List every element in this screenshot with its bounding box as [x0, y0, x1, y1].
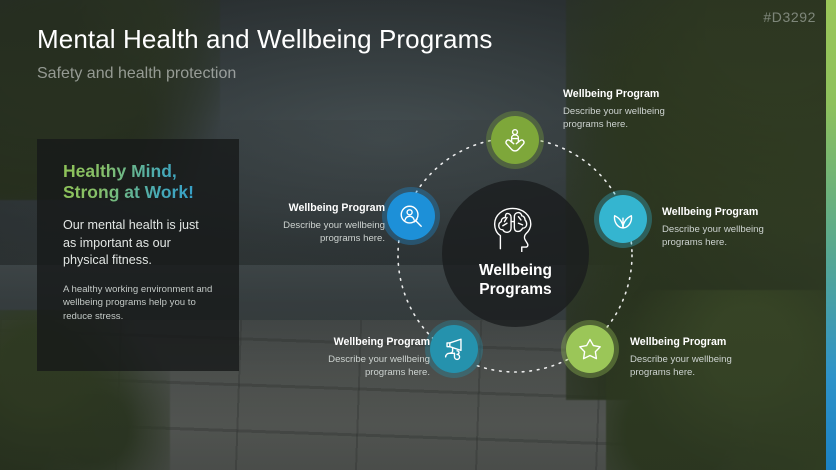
card-body-text: A healthy working environment and wellbe… [63, 283, 215, 324]
person-search-magnifier-icon [398, 203, 424, 229]
page-title: Mental Health and Wellbeing Programs [37, 24, 492, 55]
star-icon [577, 336, 603, 362]
card-lead-text: Our mental health is just as important a… [63, 217, 215, 270]
head-brain-icon [489, 206, 543, 252]
page-subtitle: Safety and health protection [37, 65, 236, 83]
hands-holding-person-icon [502, 127, 528, 153]
megaphone-icon [441, 336, 467, 362]
caption-bottom-left-description: Describe your wellbeing programs here. [290, 353, 430, 379]
card-heading: Healthy Mind, Strong at Work! [63, 161, 215, 203]
caption-right-description: Describe your wellbeing programs here. [662, 223, 802, 249]
diagram-hub: Wellbeing Programs [442, 180, 589, 327]
caption-left-description: Describe your wellbeing programs here. [245, 219, 385, 245]
node-left-wellbeing-program[interactable] [387, 192, 435, 240]
caption-right: Wellbeing Program Describe your wellbein… [662, 206, 802, 249]
slide-id-tag: #D3292 [763, 9, 816, 25]
node-top-wellbeing-program[interactable] [491, 116, 539, 164]
node-bottom-right-wellbeing-program[interactable] [566, 325, 614, 373]
hub-label: Wellbeing Programs [479, 261, 552, 299]
card-heading-line-1: Healthy Mind, [63, 161, 177, 181]
caption-left: Wellbeing Program Describe your wellbein… [245, 202, 385, 245]
caption-right-title: Wellbeing Program [662, 206, 802, 219]
hub-label-line-1: Wellbeing [479, 262, 552, 279]
caption-left-title: Wellbeing Program [245, 202, 385, 215]
slide-canvas: #D3292 Mental Health and Wellbeing Progr… [0, 0, 836, 470]
card-heading-line-2: Strong at Work! [63, 182, 194, 202]
caption-bottom-right-description: Describe your wellbeing programs here. [630, 353, 770, 379]
caption-bottom-left-title: Wellbeing Program [290, 336, 430, 349]
node-bottom-left-wellbeing-program[interactable] [430, 325, 478, 373]
highlight-card: Healthy Mind, Strong at Work! Our mental… [37, 139, 239, 371]
node-right-wellbeing-program[interactable] [599, 195, 647, 243]
accent-gradient-strip [826, 0, 836, 470]
caption-bottom-left: Wellbeing Program Describe your wellbein… [290, 336, 430, 379]
caption-bottom-right-title: Wellbeing Program [630, 336, 770, 349]
hub-label-line-2: Programs [479, 281, 551, 298]
caption-bottom-right: Wellbeing Program Describe your wellbein… [630, 336, 770, 379]
leaf-icon [610, 206, 636, 232]
caption-top: Wellbeing Program Describe your wellbein… [563, 88, 703, 131]
caption-top-description: Describe your wellbeing programs here. [563, 105, 703, 131]
caption-top-title: Wellbeing Program [563, 88, 703, 101]
wellbeing-circle-diagram: Wellbeing Programs Wellbeing Program Des… [370, 110, 660, 400]
